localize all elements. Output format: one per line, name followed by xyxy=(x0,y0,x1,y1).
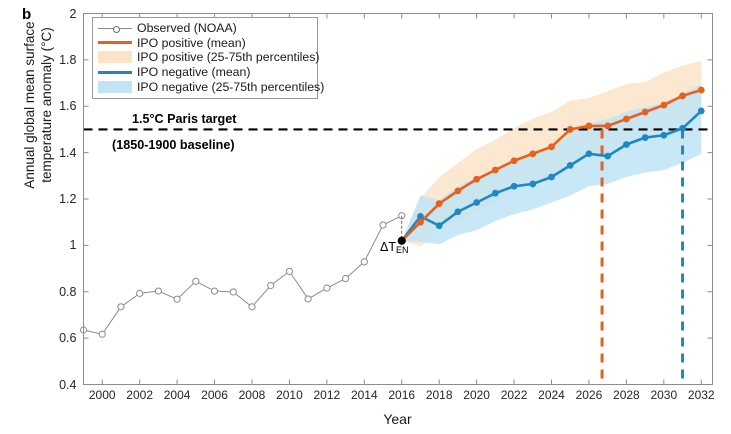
delta-t-en-label: ΔTEN xyxy=(380,240,409,254)
y-tick-label: 1.8 xyxy=(43,53,77,67)
legend-marker-icon xyxy=(113,26,120,33)
x-tick-label: 2030 xyxy=(650,388,677,402)
x-tick-label: 2032 xyxy=(688,388,715,402)
legend-key-icon xyxy=(97,21,133,35)
observed-marker xyxy=(193,278,199,284)
ipo-negative-marker xyxy=(586,151,592,157)
ipo-positive-marker xyxy=(661,102,667,108)
ipo-positive-marker xyxy=(586,123,592,129)
baseline-label: (1850-1900 baseline) xyxy=(112,138,235,152)
ipo-negative-marker xyxy=(642,135,648,141)
observed-marker xyxy=(118,304,124,310)
ipo-positive-marker xyxy=(698,87,704,93)
ipo-positive-marker xyxy=(455,188,461,194)
x-tick-label: 2024 xyxy=(538,388,565,402)
legend-item[interactable]: IPO negative (mean) xyxy=(97,65,313,80)
legend-patch-swatch xyxy=(98,81,132,93)
y-tick-label: 0.4 xyxy=(43,378,77,392)
ipo-positive-marker xyxy=(680,93,686,99)
ipo-positive-marker xyxy=(436,201,442,207)
legend-key-icon xyxy=(97,80,133,94)
ipo-negative-marker xyxy=(436,223,442,229)
legend-item-label: IPO positive (25-75th percentiles) xyxy=(137,50,320,64)
ipo-negative-marker xyxy=(698,108,704,114)
legend-key-icon xyxy=(97,36,133,50)
legend-key-icon xyxy=(97,65,133,79)
x-tick-label: 2028 xyxy=(613,388,640,402)
observed-marker xyxy=(155,288,161,294)
observed-marker xyxy=(342,275,348,281)
ipo-positive-marker xyxy=(492,167,498,173)
x-tick-label: 2006 xyxy=(201,388,228,402)
observed-marker xyxy=(361,259,367,265)
ipo-positive-marker xyxy=(511,158,517,164)
legend-item[interactable]: Observed (NOAA) xyxy=(97,21,313,36)
ipo-negative-marker xyxy=(492,190,498,196)
legend-line-swatch xyxy=(98,71,132,74)
observed-marker xyxy=(211,288,217,294)
observed-marker xyxy=(324,285,330,291)
x-tick-label: 2016 xyxy=(388,388,415,402)
x-tick-label: 2012 xyxy=(314,388,341,402)
observed-line xyxy=(84,216,402,334)
ipo-negative-marker xyxy=(455,209,461,215)
observed-marker xyxy=(268,282,274,288)
ipo-negative-marker xyxy=(567,162,573,168)
x-tick-label: 2004 xyxy=(164,388,191,402)
ipo-positive-marker xyxy=(530,151,536,157)
observed-marker xyxy=(305,296,311,302)
y-tick-label: 2 xyxy=(43,7,77,21)
legend-item-label: IPO positive (mean) xyxy=(137,36,246,50)
observed-marker xyxy=(249,304,255,310)
ipo-positive-marker xyxy=(623,116,629,122)
ipo-positive-marker xyxy=(417,219,423,225)
x-tick-label: 2010 xyxy=(276,388,303,402)
x-tick-label: 2000 xyxy=(89,388,116,402)
x-tick-label: 2002 xyxy=(126,388,153,402)
ipo-positive-marker xyxy=(549,144,555,150)
legend: Observed (NOAA)IPO positive (mean)IPO po… xyxy=(92,17,318,99)
legend-item-label: IPO negative (25-75th percentiles) xyxy=(137,80,324,94)
x-tick-label: 2020 xyxy=(463,388,490,402)
ipo-positive-marker xyxy=(567,126,573,132)
legend-item-label: IPO negative (mean) xyxy=(137,65,250,79)
ipo-negative-marker xyxy=(530,181,536,187)
observed-marker xyxy=(137,290,143,296)
legend-item[interactable]: IPO positive (mean) xyxy=(97,36,313,51)
legend-item[interactable]: IPO negative (25-75th percentiles) xyxy=(97,79,313,94)
legend-line-swatch xyxy=(98,41,132,44)
y-tick-label: 0.8 xyxy=(43,285,77,299)
observed-marker xyxy=(380,222,386,228)
ipo-negative-marker xyxy=(549,174,555,180)
y-tick-label: 0.6 xyxy=(43,331,77,345)
y-tick-label: 1 xyxy=(43,238,77,252)
ipo-negative-marker xyxy=(511,183,517,189)
ipo-positive-marker xyxy=(605,123,611,129)
legend-patch-swatch xyxy=(98,51,132,63)
y-tick-label: 1.2 xyxy=(43,192,77,206)
figure-panel-b: b Annual global mean surface temperature… xyxy=(0,0,731,434)
x-tick-label: 2008 xyxy=(239,388,266,402)
y-tick-label: 1.6 xyxy=(43,99,77,113)
observed-marker xyxy=(286,268,292,274)
legend-key-icon xyxy=(97,50,133,64)
ipo-negative-marker xyxy=(623,142,629,148)
ipo-negative-marker xyxy=(605,153,611,159)
x-tick-label: 2014 xyxy=(351,388,378,402)
ipo-positive-marker xyxy=(642,109,648,115)
x-tick-label: 2022 xyxy=(501,388,528,402)
x-tick-label: 2026 xyxy=(576,388,603,402)
y-tick-label: 1.4 xyxy=(43,146,77,160)
legend-item[interactable]: IPO positive (25-75th percentiles) xyxy=(97,50,313,65)
ipo-negative-marker xyxy=(680,125,686,131)
ipo-negative-marker xyxy=(661,132,667,138)
delta-t-symbol: ΔT xyxy=(380,240,396,254)
ipo-negative-marker xyxy=(474,199,480,205)
x-tick-label: 2018 xyxy=(426,388,453,402)
observed-marker xyxy=(230,289,236,295)
observed-marker xyxy=(174,296,180,302)
observed-marker xyxy=(99,331,105,337)
ipo-positive-marker xyxy=(474,176,480,182)
delta-t-subscript: EN xyxy=(396,245,409,255)
paris-target-label: 1.5°C Paris target xyxy=(132,112,236,126)
legend-item-label: Observed (NOAA) xyxy=(137,21,237,35)
